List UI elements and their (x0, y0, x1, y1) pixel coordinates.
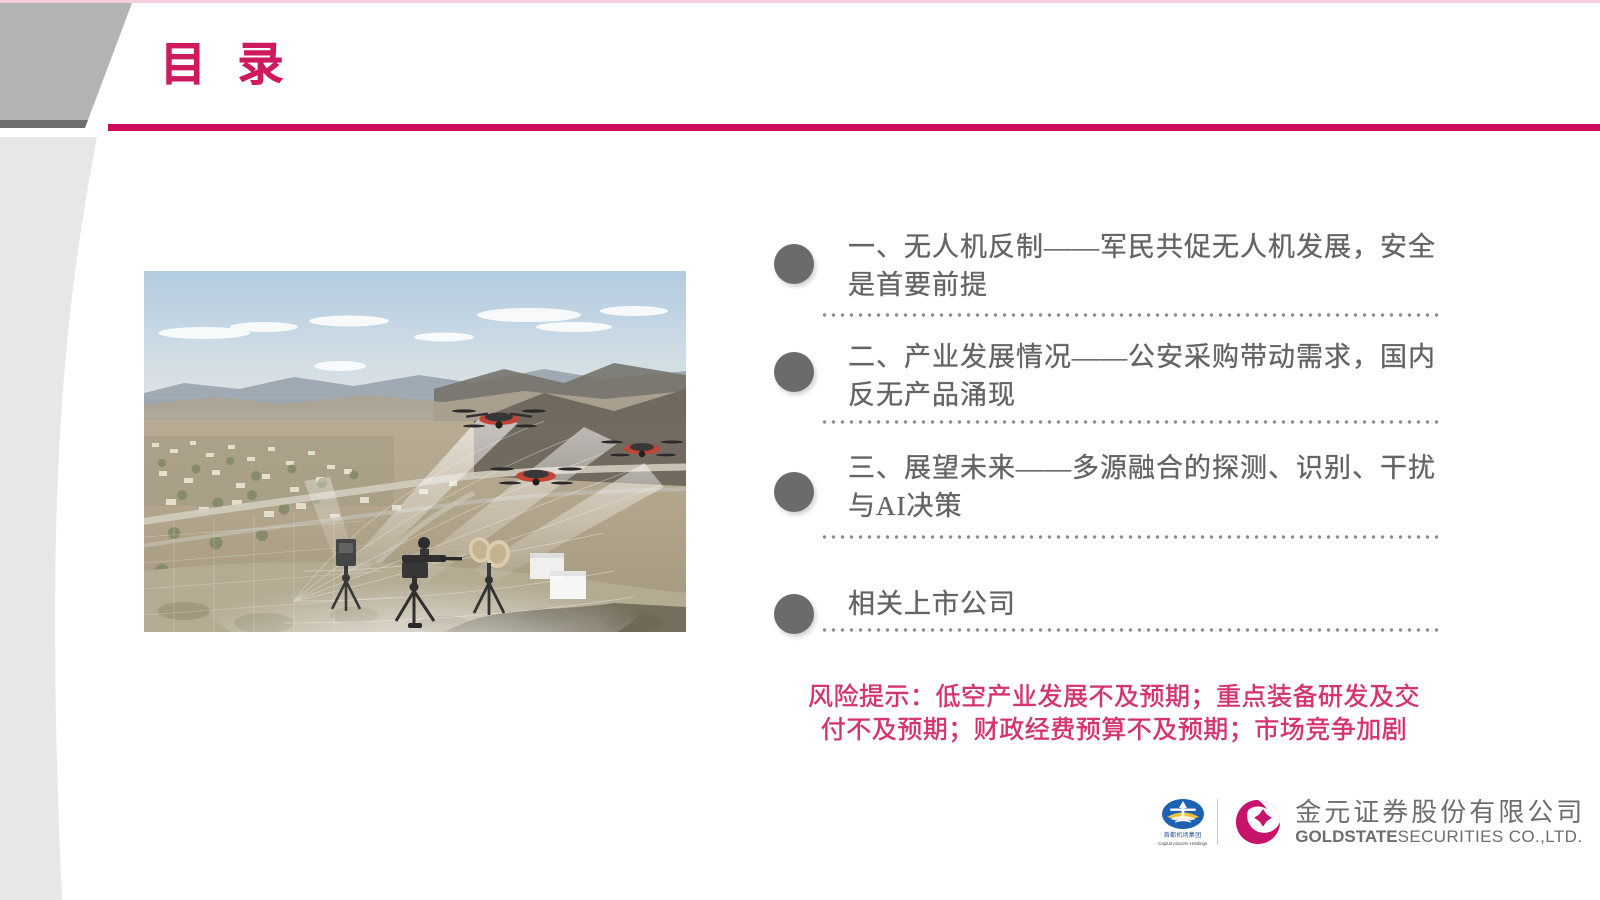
page-title: 目 录 (160, 42, 294, 88)
goldstate-name-block: 金元证券股份有限公司 GOLDSTATESECURITIES CO.,LTD. (1295, 798, 1585, 847)
toc-item-1-label: 一、无人机反制——军民共促无人机发展，安全是首要前提 (848, 228, 1458, 304)
left-curved-band (0, 137, 97, 900)
goldstate-name-en-rest: SECURITIES CO.,LTD. (1398, 827, 1583, 846)
brand-separator (1217, 799, 1218, 845)
goldstate-name-cn: 金元证券股份有限公司 (1295, 798, 1585, 827)
capital-airports-logo: 首都机场集团 Capital Airports Holdings (1158, 798, 1207, 847)
toc-bullet-icon (774, 472, 814, 512)
counter-drone-scene (144, 271, 686, 632)
toc-item-2-label: 二、产业发展情况——公安采购带动需求，国内反无产品涌现 (848, 338, 1458, 414)
header-divider-rule (108, 124, 1600, 131)
toc-bullet-icon (774, 594, 814, 634)
toc-bullet-icon (774, 244, 814, 284)
toc-bullet-icon (774, 352, 814, 392)
toc-item-1-divider (820, 313, 1440, 317)
brand-logos: 首都机场集团 Capital Airports Holdings 金元证券股份有… (1158, 797, 1585, 847)
slide-canvas: 目 录 (0, 0, 1600, 900)
header-gray-block (0, 3, 132, 120)
goldstate-logo-icon (1230, 797, 1286, 847)
goldstate-name-en: GOLDSTATESECURITIES CO.,LTD. (1295, 827, 1585, 847)
toc-item-4-label: 相关上市公司 (848, 585, 1458, 623)
toc-item-2-divider (820, 420, 1440, 424)
risk-line-1: 风险提示：低空产业发展不及预期；重点装备研发及交 (790, 681, 1438, 714)
counter-drone-illustration (144, 271, 686, 632)
header-gray-underline (0, 120, 88, 128)
capital-airports-caption: 首都机场集团 Capital Airports Holdings (1158, 833, 1207, 847)
capital-airports-emblem-icon (1161, 798, 1205, 832)
toc-item-4-divider (820, 628, 1440, 632)
risk-line-2: 付不及预期；财政经费预算不及预期；市场竞争加剧 (790, 714, 1438, 747)
toc-item-3-label: 三、展望未来——多源融合的探测、识别、干扰与AI决策 (848, 449, 1458, 525)
risk-disclaimer: 风险提示：低空产业发展不及预期；重点装备研发及交 付不及预期；财政经费预算不及预… (790, 681, 1438, 747)
toc-item-3-divider (820, 535, 1440, 539)
goldstate-name-en-bold: GOLDSTATE (1295, 827, 1397, 846)
